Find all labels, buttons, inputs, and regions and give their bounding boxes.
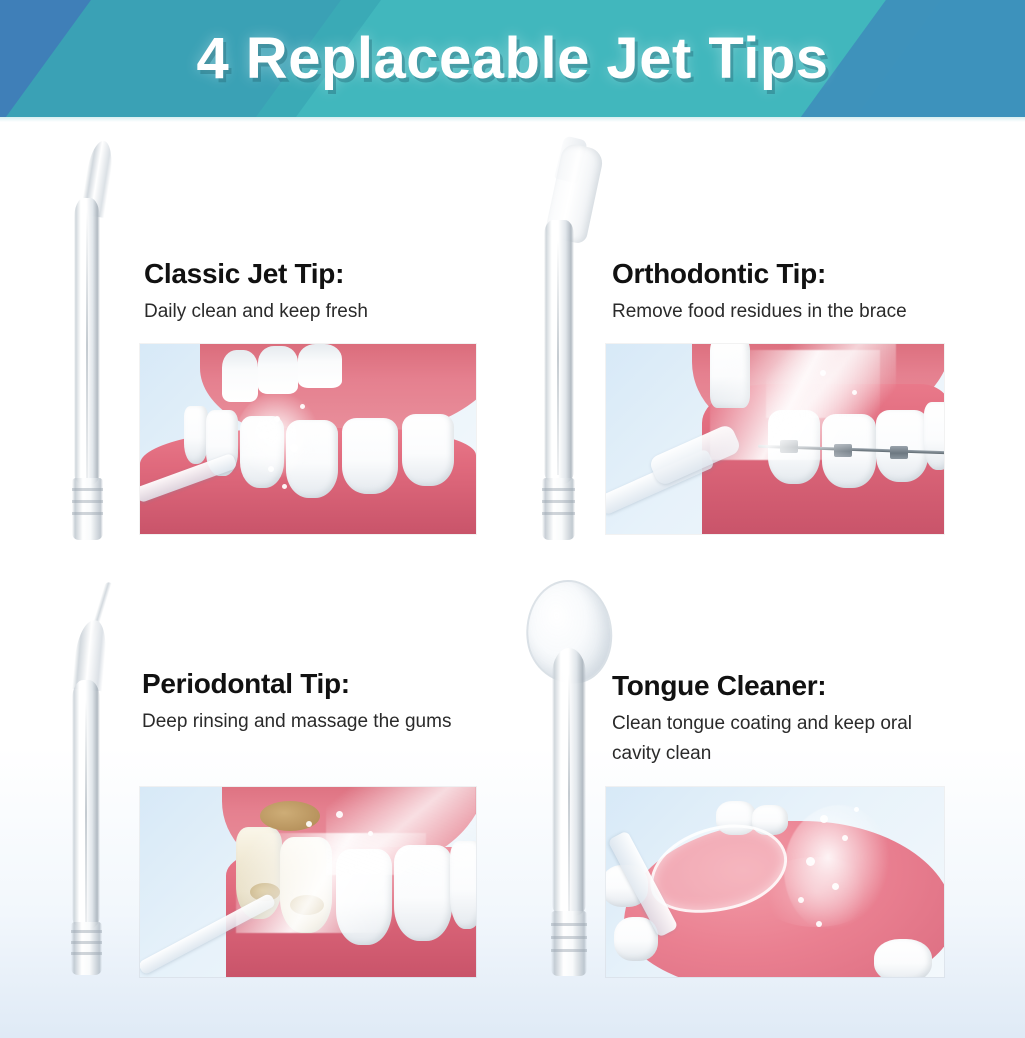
lower-tooth xyxy=(342,418,398,494)
tongue-cleaner-description: Clean tongue coating and keep oral cavit… xyxy=(612,709,942,769)
water-droplet xyxy=(842,835,848,841)
periodontal-tip-photo xyxy=(140,787,476,977)
nozzle-base-ring xyxy=(72,512,103,515)
nozzle-base-ring xyxy=(542,500,575,503)
water-droplet xyxy=(798,897,804,903)
lower-tooth xyxy=(874,939,932,977)
banner-title: 4 Replaceable Jet Tips xyxy=(0,0,1025,117)
nozzle-base-ring xyxy=(72,500,103,503)
banner-underline xyxy=(0,117,1025,122)
water-droplet xyxy=(306,821,312,827)
classic-jet-tip-description: Daily clean and keep fresh xyxy=(144,297,524,327)
water-droplet xyxy=(854,807,859,812)
classic-jet-tip-photo xyxy=(140,344,476,534)
water-spray xyxy=(766,344,896,418)
water-droplet xyxy=(806,857,815,866)
water-droplet xyxy=(274,416,280,422)
water-droplet xyxy=(282,484,287,489)
periodontal-tip-nozzle xyxy=(58,580,128,975)
nozzle-base-ring xyxy=(551,923,587,926)
nozzle-base xyxy=(72,478,103,540)
water-spray xyxy=(236,392,324,478)
water-droplet xyxy=(336,811,343,818)
upper-tooth xyxy=(222,350,258,402)
water-droplet xyxy=(816,921,822,927)
water-droplet xyxy=(300,404,305,409)
nozzle-inner-highlight xyxy=(568,673,570,913)
tongue-cleaner-photo xyxy=(606,787,944,977)
infographic-page: 4 Replaceable Jet Tips xyxy=(0,0,1025,1038)
upper-tooth xyxy=(258,346,298,394)
nozzle-inner-highlight xyxy=(85,700,87,925)
upper-tooth xyxy=(298,344,342,388)
water-droplet xyxy=(820,815,828,823)
nozzle-base-ring xyxy=(551,949,587,952)
water-droplet xyxy=(368,831,373,836)
periodontal-tip-title: Periodontal Tip: xyxy=(142,668,350,700)
nozzle-base-ring xyxy=(71,941,102,944)
water-droplet xyxy=(258,432,265,439)
nozzle-base-ring xyxy=(542,488,575,491)
orthodontic-tip-nozzle xyxy=(528,140,608,540)
nozzle-base xyxy=(551,911,587,976)
nozzle-base xyxy=(71,922,102,975)
nozzle-base-ring xyxy=(71,952,102,955)
water-droplet xyxy=(290,444,298,452)
nozzle-base-ring xyxy=(542,512,575,515)
water-spray xyxy=(326,787,476,875)
nozzle-base-ring xyxy=(71,930,102,933)
orthodontic-tip-photo xyxy=(606,344,944,534)
nozzle-base-ring xyxy=(551,936,587,939)
braced-tooth xyxy=(924,402,944,470)
orthodontic-tip-title: Orthodontic Tip: xyxy=(612,258,826,290)
classic-jet-tip-nozzle xyxy=(60,140,122,540)
water-droplet xyxy=(832,883,839,890)
orthodontic-tip-description: Remove food residues in the brace xyxy=(612,297,1012,327)
nozzle-inner-highlight xyxy=(86,210,88,480)
nozzle-inner-highlight xyxy=(557,240,559,475)
nozzle-base xyxy=(542,478,575,540)
nozzle-shaft xyxy=(544,220,574,485)
water-droplet xyxy=(852,390,857,395)
nozzle-base-ring xyxy=(72,488,103,491)
classic-jet-tip-title: Classic Jet Tip: xyxy=(144,258,344,290)
plaque-deposit xyxy=(260,801,320,831)
water-droplet xyxy=(268,466,274,472)
water-droplet xyxy=(820,370,826,376)
water-spray xyxy=(784,805,894,935)
tongue-cleaner-title: Tongue Cleaner: xyxy=(612,670,826,702)
lower-tooth xyxy=(402,414,454,486)
lower-tooth xyxy=(184,406,208,464)
periodontal-tip-description: Deep rinsing and massage the gums xyxy=(142,707,542,737)
orthodontic-bracket xyxy=(890,446,908,459)
